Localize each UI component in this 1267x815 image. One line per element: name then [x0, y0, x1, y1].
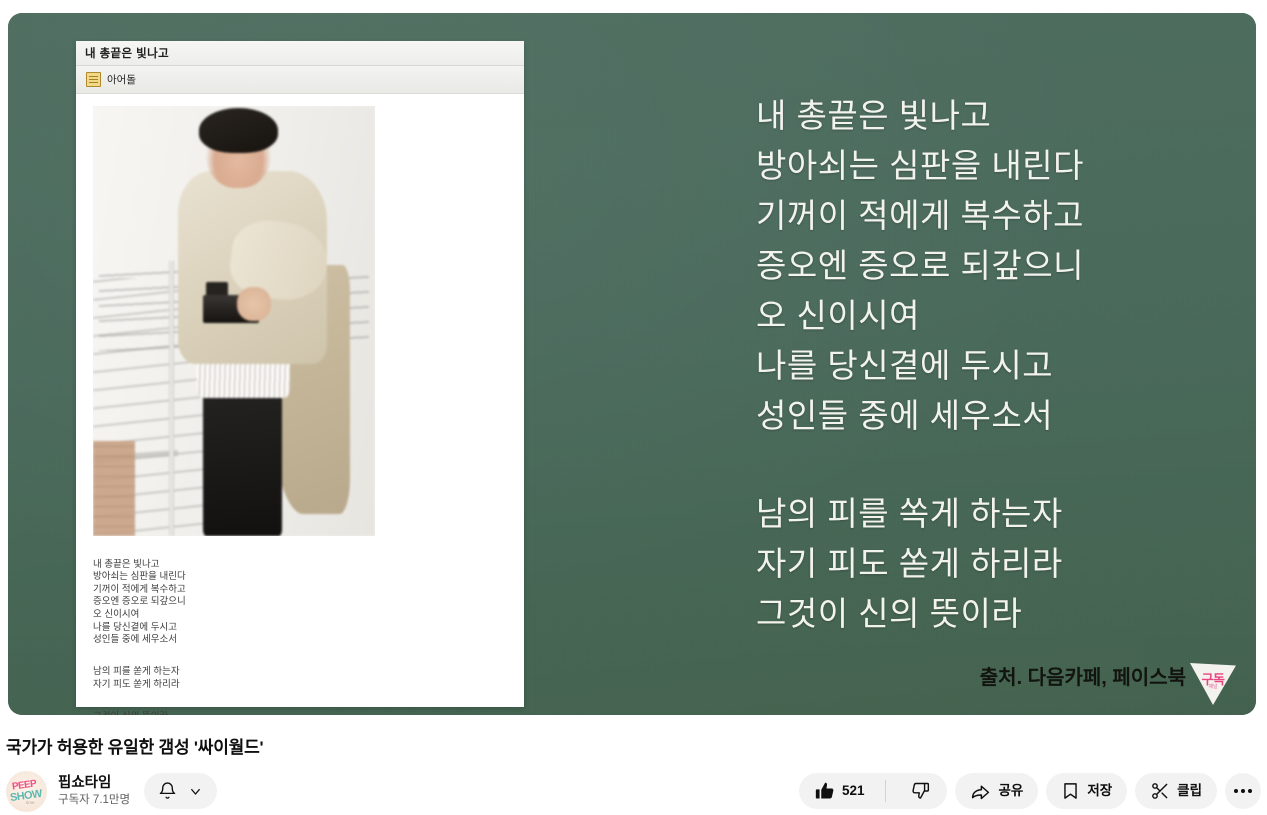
three-dots-icon [1234, 789, 1238, 793]
scissors-icon [1150, 781, 1170, 801]
three-dots-icon [1248, 789, 1252, 793]
video-player[interactable]: 내 총끝은 빛나고 아어돌 [8, 13, 1256, 715]
embedded-screenshot-titlebar: 내 총끝은 빛나고 [76, 41, 524, 66]
subscribe-watermark-sublabel: 채널 [1200, 683, 1226, 690]
clip-label: 클립 [1177, 784, 1202, 798]
channel-text: 핍쇼타임 구독자 7.1만명 [58, 774, 130, 808]
like-button[interactable]: 521 [799, 773, 879, 809]
like-dislike-group: 521 [799, 773, 948, 809]
save-label: 저장 [1087, 784, 1112, 798]
channel-name[interactable]: 핍쇼타임 [58, 774, 130, 792]
caption-block-2: 남의 피를 쏟게 하는자 자기 피도 쏟게 하리라 [93, 666, 180, 690]
bell-icon [158, 781, 177, 801]
photo-person-hand [237, 287, 271, 321]
video-meta-row: PEEP SHOW time 핍쇼타임 구독자 7.1만명 [0, 766, 1267, 815]
photo-railing-post [169, 261, 174, 536]
share-button[interactable]: 공유 [955, 773, 1038, 809]
embedded-screenshot-panel: 내 총끝은 빛나고 아어돌 [76, 41, 524, 706]
lyric-line: 나를 당신곁에 두시고 [756, 341, 1226, 391]
avatar[interactable]: PEEP SHOW time [6, 771, 47, 812]
lyric-line: 오 신이시여 [756, 291, 1226, 341]
chevron-down-icon [188, 784, 203, 799]
thumbs-up-icon [815, 781, 835, 801]
lyric-line: 내 총끝은 빛나고 [756, 91, 1226, 141]
embedded-screenshot-title: 내 총끝은 빛나고 [85, 45, 169, 61]
avatar-text-time: time [26, 800, 35, 805]
photo-layers [93, 106, 375, 536]
lyric-line: 기꺼이 적에게 복수하고 [756, 191, 1226, 241]
action-buttons: 521 공유 [799, 773, 1261, 809]
lyric-line: 남의 피를 쏙게 하는자 [756, 489, 1226, 539]
lyric-line: 방아쇠는 심판을 내린다 [756, 141, 1226, 191]
channel-block[interactable]: PEEP SHOW time 핍쇼타임 구독자 7.1만명 [6, 771, 130, 812]
thumbs-down-icon [910, 781, 930, 801]
subscribe-watermark[interactable]: 구독 채널 [1190, 663, 1236, 705]
caption-block-3: 그것이 신의 뜻이라. [93, 711, 171, 715]
lyric-line: 성인들 중에 세우소서 [756, 391, 1226, 441]
photo-person-hair [199, 108, 278, 153]
notification-bell-button[interactable] [144, 773, 217, 809]
channel-subscriber-count: 구독자 7.1만명 [58, 793, 130, 808]
bookmark-icon [1061, 781, 1080, 801]
lyrics-spacer [756, 441, 1226, 489]
photo-brick [93, 441, 135, 536]
caption-spacer-1 [93, 647, 353, 654]
youtube-watch-page: 내 총끝은 빛나고 아어돌 [0, 0, 1267, 815]
source-credit: 출처. 다음카페, 페이스북 [980, 661, 1186, 690]
clip-button[interactable]: 클립 [1135, 773, 1217, 809]
embedded-screenshot-category: 아어돌 [107, 72, 136, 87]
share-label: 공유 [998, 784, 1023, 798]
embedded-screenshot-caption: 내 총끝은 빛나고 방아쇠는 심판을 내린다 기꺼이 적에게 복수하고 증오엔 … [93, 546, 353, 715]
three-dots-icon [1241, 789, 1245, 793]
lyrics-overlay: 내 총끝은 빛나고 방아쇠는 심판을 내린다 기꺼이 적에게 복수하고 증오엔 … [756, 91, 1226, 639]
share-arrow-icon [970, 781, 991, 802]
embedded-screenshot-subbar: 아어돌 [76, 66, 524, 94]
lyric-line: 자기 피도 쏟게 하리라 [756, 539, 1226, 589]
embedded-screenshot-body: 내 총끝은 빛나고 방아쇠는 심판을 내린다 기꺼이 적에게 복수하고 증오엔 … [76, 94, 524, 707]
more-options-button[interactable] [1225, 773, 1261, 809]
lyric-line: 그것이 신의 뜻이라 [756, 589, 1226, 639]
save-button[interactable]: 저장 [1046, 773, 1127, 809]
caption-block-1: 내 총끝은 빛나고 방아쇠는 심판을 내린다 기꺼이 적에게 복수하고 증오엔 … [93, 559, 186, 646]
dislike-button[interactable] [893, 773, 947, 809]
list-icon [86, 72, 101, 87]
like-dislike-divider [885, 780, 886, 802]
video-title: 국가가 허용한 유일한 갬성 '싸이월드' [6, 733, 263, 758]
caption-spacer-2 [93, 692, 353, 699]
lyric-line: 증오엔 증오로 되갚으니 [756, 241, 1226, 291]
like-count: 521 [842, 784, 865, 798]
blurred-person-photo [93, 106, 375, 536]
